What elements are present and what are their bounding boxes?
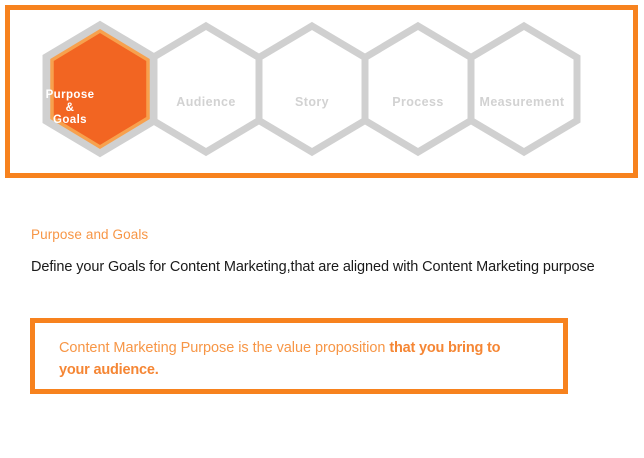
section-kicker: Purpose and Goals — [31, 227, 148, 242]
diagram-frame: Purpose & Goals Audience Story Process M… — [5, 5, 638, 178]
callout-box: Content Marketing Purpose is the value p… — [30, 318, 568, 394]
callout-text: Content Marketing Purpose is the value p… — [59, 337, 529, 381]
hexagon-step-audience[interactable] — [153, 26, 259, 152]
hexagon-step-purpose-goals[interactable] — [47, 26, 153, 152]
hexagon-step-row: Purpose & Goals Audience Story Process M… — [10, 10, 633, 173]
hexagon-step-story[interactable] — [259, 26, 365, 152]
hexagon-step-process[interactable] — [365, 26, 471, 152]
hexagon-chain-svg — [40, 20, 610, 165]
section-body-text: Define your Goals for Content Marketing,… — [31, 259, 595, 275]
hexagon-step-measurement[interactable] — [471, 26, 577, 152]
callout-lead-text: Content Marketing Purpose is the value p… — [59, 340, 389, 356]
